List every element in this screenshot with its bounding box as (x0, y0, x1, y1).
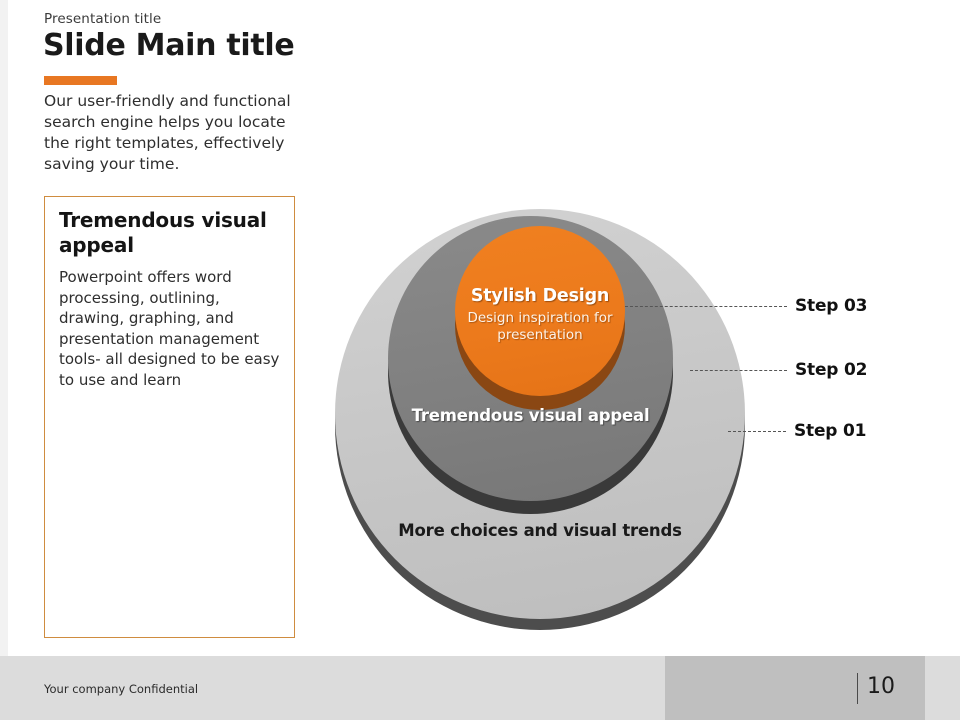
page-number-divider (857, 673, 858, 704)
left-edge-band (0, 0, 8, 656)
leader-line-step-02 (690, 370, 787, 371)
leader-line-step-03 (625, 306, 787, 307)
leader-line-step-01 (728, 431, 786, 432)
inner-circle-subtitle: Design inspiration for presentation (455, 310, 625, 344)
inner-circle-title: Stylish Design (455, 286, 625, 307)
middle-circle-label: Tremendous visual appeal (388, 405, 673, 426)
step-label-03[interactable]: Step 03 (795, 296, 867, 316)
outer-circle-label: More choices and visual trends (335, 520, 745, 541)
feature-card: Tremendous visual appeal Powerpoint offe… (44, 196, 295, 638)
presentation-title-eyebrow: Presentation title (44, 11, 161, 27)
feature-card-body: Powerpoint offers word processing, outli… (59, 267, 283, 390)
footer-confidentiality-note: Your company Confidential (44, 682, 198, 696)
feature-card-title: Tremendous visual appeal (59, 208, 283, 258)
inner-circle-label-group: Stylish Design Design inspiration for pr… (455, 286, 625, 344)
accent-bar (44, 76, 117, 85)
concentric-circles-diagram: Stylish Design Design inspiration for pr… (320, 190, 780, 640)
intro-paragraph: Our user-friendly and functional search … (44, 91, 296, 175)
page-title: Slide Main title (43, 28, 294, 63)
step-label-01[interactable]: Step 01 (794, 421, 866, 441)
presentation-slide: Presentation title Slide Main title Our … (0, 0, 960, 720)
page-number: 10 (867, 674, 895, 699)
step-label-02[interactable]: Step 02 (795, 360, 867, 380)
